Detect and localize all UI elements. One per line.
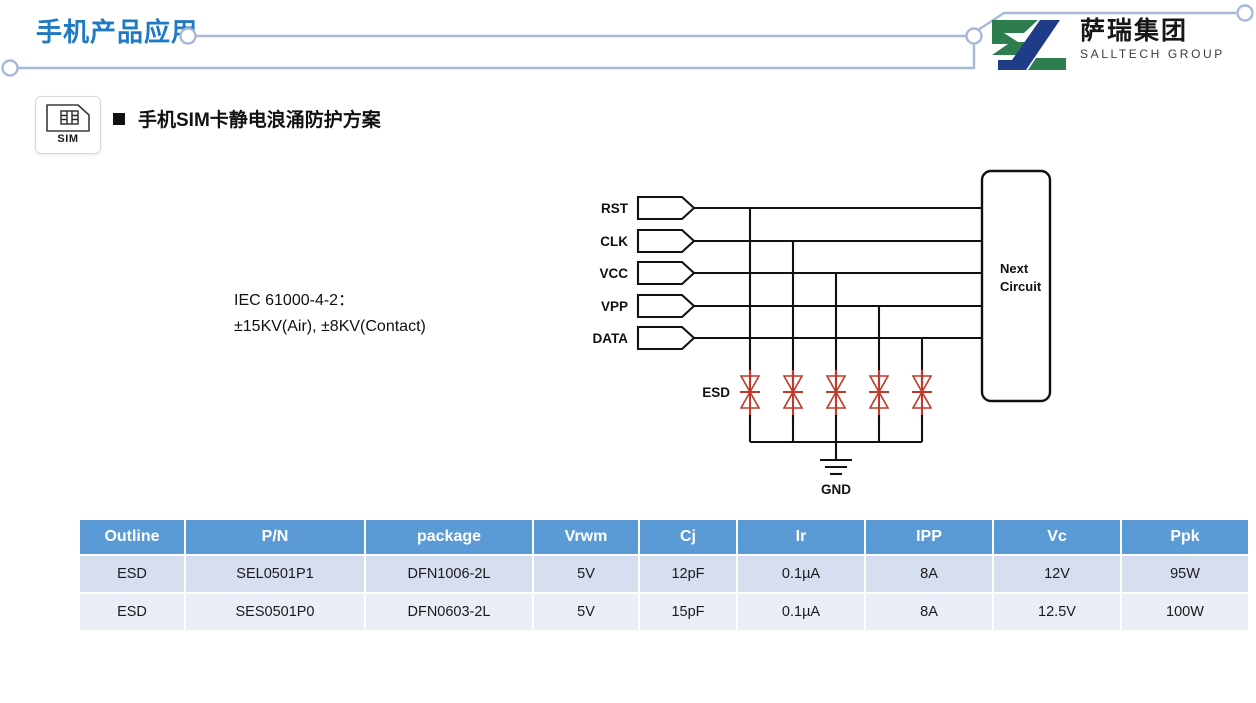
circuit-diagram: RST CLK VCC VPP DATA <box>560 160 1100 515</box>
cell-pn: SES0501P0 <box>186 594 364 630</box>
table-row: ESD SEL0501P1 DFN1006-2L 5V 12pF 0.1µA 8… <box>80 556 1248 592</box>
cell-ppk: 100W <box>1122 594 1248 630</box>
sim-card-badge: SIM <box>35 96 101 154</box>
table-row: ESD SES0501P0 DFN0603-2L 5V 15pF 0.1µA 8… <box>80 594 1248 630</box>
column-header-pn: P/N <box>186 520 364 554</box>
section-bullet-icon <box>113 113 125 125</box>
column-header-outline: Outline <box>80 520 184 554</box>
esd-diode-array <box>740 370 932 420</box>
cell-ir: 0.1µA <box>738 556 864 592</box>
ground-bus <box>750 415 922 442</box>
page-header: 手机产品应用 萨瑞集团 SALLTECH GROUP <box>0 0 1256 90</box>
spec-note-line1: IEC 61000-4-2： <box>234 288 426 314</box>
next-circuit-block: Next Circuit <box>982 171 1050 401</box>
cell-vrwm: 5V <box>534 594 638 630</box>
signal-label-vcc: VCC <box>599 266 628 281</box>
table-header-row: Outline P/N package Vrwm Cj Ir IPP Vc Pp… <box>80 520 1248 554</box>
tvs-diode <box>869 370 889 420</box>
deco-node-bottom-left <box>3 61 18 76</box>
deco-node-mid <box>967 29 982 44</box>
cell-ipp: 8A <box>866 556 992 592</box>
signal-label-data: DATA <box>593 331 629 346</box>
cell-outline: ESD <box>80 556 184 592</box>
cell-ppk: 95W <box>1122 556 1248 592</box>
cell-package: DFN1006-2L <box>366 556 532 592</box>
column-header-vc: Vc <box>994 520 1120 554</box>
cell-ipp: 8A <box>866 594 992 630</box>
sim-badge-label: SIM <box>36 133 100 145</box>
esd-spec-note: IEC 61000-4-2： ±15KV(Air), ±8KV(Contact) <box>234 288 426 340</box>
company-logo: 萨瑞集团 SALLTECH GROUP <box>988 14 1240 76</box>
cell-cj: 15pF <box>640 594 736 630</box>
deco-line-lower <box>18 44 974 68</box>
esd-tap-wires <box>750 208 922 385</box>
signal-label-clk: CLK <box>600 234 628 249</box>
signal-pin-connectors <box>638 197 694 349</box>
ground-symbol-icon <box>820 442 852 474</box>
section-heading: 手机SIM卡静电浪涌防护方案 <box>113 105 381 132</box>
section-heading-label: 手机SIM卡静电浪涌防护方案 <box>138 105 381 132</box>
cell-ir: 0.1µA <box>738 594 864 630</box>
logo-name-en: SALLTECH GROUP <box>1080 46 1240 62</box>
deco-node-left <box>181 29 196 44</box>
tvs-diode <box>783 370 803 420</box>
next-circuit-line2: Circuit <box>1000 279 1042 294</box>
spec-table: Outline P/N package Vrwm Cj Ir IPP Vc Pp… <box>78 518 1250 632</box>
column-header-cj: Cj <box>640 520 736 554</box>
cell-vc: 12V <box>994 556 1120 592</box>
cell-pn: SEL0501P1 <box>186 556 364 592</box>
tvs-diode <box>740 370 760 420</box>
signal-label-vpp: VPP <box>601 299 628 314</box>
column-header-ipp: IPP <box>866 520 992 554</box>
tvs-diode <box>826 370 846 420</box>
tvs-diode <box>912 370 932 420</box>
cell-outline: ESD <box>80 594 184 630</box>
column-header-ir: Ir <box>738 520 864 554</box>
cell-vc: 12.5V <box>994 594 1120 630</box>
signal-label-rst: RST <box>601 201 629 216</box>
sim-card-icon <box>44 102 92 134</box>
spec-note-line2: ±15KV(Air), ±8KV(Contact) <box>234 314 426 340</box>
gnd-label: GND <box>821 482 851 497</box>
esd-label: ESD <box>702 385 730 400</box>
signal-wires <box>694 208 982 338</box>
cell-cj: 12pF <box>640 556 736 592</box>
logo-text: 萨瑞集团 SALLTECH GROUP <box>1080 16 1240 62</box>
cell-package: DFN0603-2L <box>366 594 532 630</box>
column-header-vrwm: Vrwm <box>534 520 638 554</box>
salltech-logo-mark <box>988 18 1070 72</box>
logo-name-cn: 萨瑞集团 <box>1080 16 1240 46</box>
cell-vrwm: 5V <box>534 556 638 592</box>
column-header-package: package <box>366 520 532 554</box>
next-circuit-line1: Next <box>1000 261 1029 276</box>
column-header-ppk: Ppk <box>1122 520 1248 554</box>
